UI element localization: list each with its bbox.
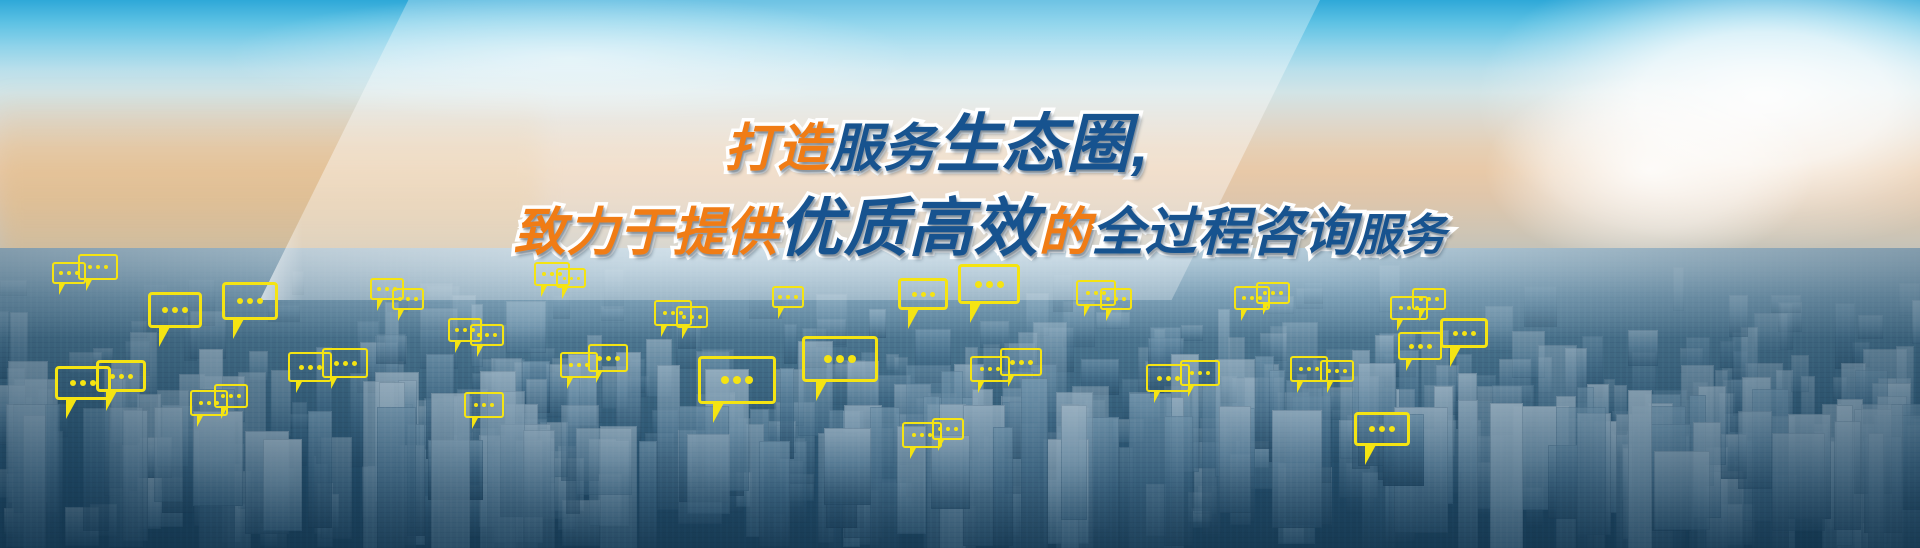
bubble-dot [975,281,982,288]
speech-bubble-icon [802,336,878,382]
bubble-dot [836,355,844,363]
bubble-dot [229,394,233,398]
bubble-dot [1327,369,1331,373]
speech-bubble-icon [1100,288,1132,310]
bubble-dot [1453,331,1458,336]
bubble-dot [1263,291,1267,295]
bubble-dot [615,356,620,361]
speech-bubble-icon [1000,348,1042,376]
bubble-dot [824,355,832,363]
bubble-dot [1307,367,1311,371]
bubble-dot [1094,291,1098,295]
bubble-dot [745,376,753,384]
speech-bubble-icon [222,282,278,320]
bubble-dot [247,298,253,304]
bubble-dot [550,272,554,276]
bubble-dot [1086,291,1090,295]
bubble-dot [128,374,133,379]
bubble-dot [997,281,1004,288]
bubble-dot [455,328,459,332]
bubble-dot [1315,367,1319,371]
bubble-dot [1435,297,1439,301]
speech-bubble-icon [1256,282,1290,304]
speech-bubble-layer [0,0,1920,548]
bubble-dot [912,433,916,437]
bubble-dot [1427,344,1432,349]
bubble-dot [477,333,481,337]
bubble-dot [1242,296,1246,300]
speech-bubble-icon [214,384,248,408]
bubble-dot [352,361,357,366]
speech-bubble-icon [958,264,1020,304]
bubble-dot [96,265,100,269]
bubble-dot [80,380,86,386]
bubble-dot [1419,297,1423,301]
bubble-dot [733,376,741,384]
speech-bubble-icon [556,268,586,288]
bubble-dot [414,297,418,301]
bubble-dot [88,265,92,269]
bubble-dot [786,295,790,299]
bubble-dot [570,277,573,280]
speech-bubble-icon [470,324,504,346]
bubble-dot [67,271,71,275]
bubble-dot [1279,291,1283,295]
bubble-dot [1190,371,1194,375]
bubble-dot [1175,376,1180,381]
bubble-dot [182,307,188,313]
bubble-dot [682,315,686,319]
bubble-dot [237,394,241,398]
speech-bubble-icon [898,278,948,310]
bubble-dot [1369,426,1375,432]
bubble-dot [794,295,798,299]
speech-bubble-icon [932,418,964,440]
bubble-dot [542,272,546,276]
bubble-dot [986,281,993,288]
bubble-dot [1418,344,1423,349]
bubble-dot [778,295,782,299]
hero-banner: 打造服务生态圈, 致力于提供优质高效的全过程咨询服务 [0,0,1920,548]
bubble-dot [954,427,958,431]
bubble-dot [1299,367,1303,371]
bubble-dot [1206,371,1210,375]
bubble-dot [690,315,694,319]
bubble-dot [1166,376,1171,381]
bubble-dot [308,365,313,370]
bubble-dot [1250,296,1254,300]
bubble-dot [110,374,115,379]
bubble-dot [343,361,348,366]
bubble-dot [1389,426,1395,432]
bubble-dot [463,328,467,332]
bubble-dot [485,333,489,337]
bubble-dot [663,311,667,315]
bubble-dot [119,374,124,379]
speech-bubble-icon [1398,332,1442,360]
bubble-dot [671,311,675,315]
bubble-dot [1335,369,1339,373]
bubble-dot [385,287,389,291]
bubble-dot [1198,371,1202,375]
bubble-dot [988,367,992,371]
bubble-dot [1407,306,1411,310]
bubble-dot [1409,344,1414,349]
bubble-dot [721,376,729,384]
bubble-dot [920,433,924,437]
bubble-dot [299,365,304,370]
bubble-dot [172,307,178,313]
speech-bubble-icon [1354,412,1410,446]
speech-bubble-icon [78,254,118,280]
bubble-dot [946,427,950,431]
bubble-dot [221,394,225,398]
bubble-dot [569,363,573,367]
bubble-dot [199,401,203,405]
bubble-dot [162,307,168,313]
bubble-dot [104,265,108,269]
bubble-dot [980,367,984,371]
speech-bubble-icon [1412,288,1446,310]
bubble-dot [1271,291,1275,295]
bubble-dot [1427,297,1431,301]
bubble-dot [406,297,410,301]
bubble-dot [1019,360,1024,365]
bubble-dot [257,298,263,304]
speech-bubble-icon [1320,360,1354,382]
bubble-dot [577,277,580,280]
bubble-dot [70,380,76,386]
speech-bubble-icon [96,360,146,392]
bubble-dot [938,427,942,431]
bubble-dot [1157,376,1162,381]
speech-bubble-icon [148,292,202,328]
bubble-dot [398,297,402,301]
bubble-dot [59,271,63,275]
speech-bubble-icon [676,306,708,328]
bubble-dot [1399,306,1403,310]
bubble-dot [377,287,381,291]
bubble-dot [493,333,497,337]
speech-bubble-icon [772,286,804,308]
bubble-dot [698,315,702,319]
bubble-dot [1010,360,1015,365]
speech-bubble-icon [1180,360,1220,386]
bubble-dot [317,365,322,370]
bubble-dot [848,355,856,363]
bubble-dot [1379,426,1385,432]
bubble-dot [921,292,926,297]
speech-bubble-icon [588,344,628,372]
bubble-dot [606,356,611,361]
bubble-dot [1114,297,1118,301]
bubble-dot [237,298,243,304]
speech-bubble-icon [464,392,504,418]
bubble-dot [334,361,339,366]
bubble-dot [490,403,494,407]
bubble-dot [563,277,566,280]
bubble-dot [207,401,211,405]
bubble-dot [1462,331,1467,336]
speech-bubble-icon [1440,318,1488,348]
bubble-dot [577,363,581,367]
speech-bubble-icon [322,348,368,378]
bubble-dot [482,403,486,407]
bubble-dot [912,292,917,297]
speech-bubble-icon [698,356,776,404]
bubble-dot [1122,297,1126,301]
bubble-dot [1343,369,1347,373]
bubble-dot [597,356,602,361]
bubble-dot [1028,360,1033,365]
bubble-dot [1106,297,1110,301]
bubble-dot [474,403,478,407]
speech-bubble-icon [392,288,424,310]
bubble-dot [1471,331,1476,336]
bubble-dot [930,292,935,297]
